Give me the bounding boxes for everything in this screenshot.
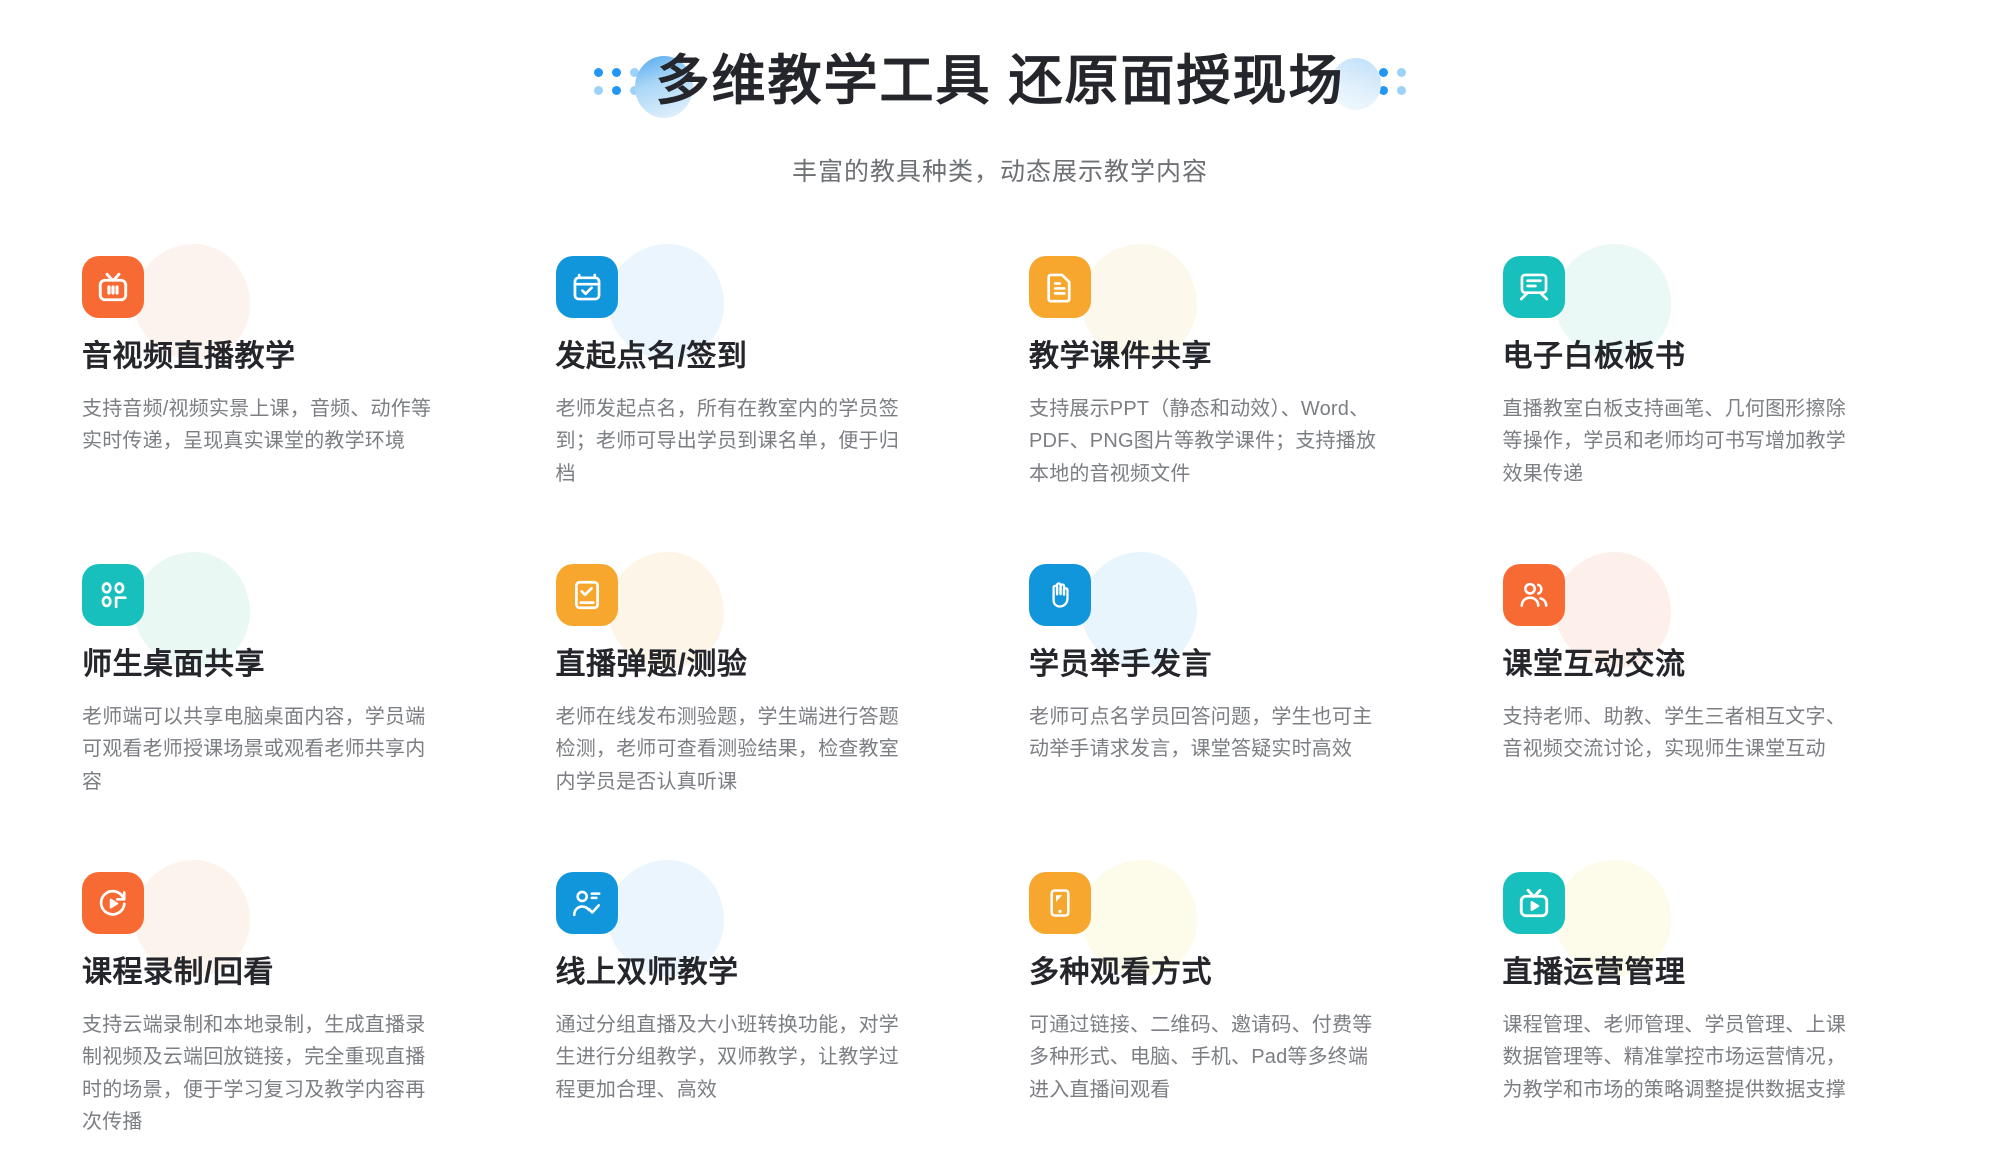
page-subtitle: 丰富的教具种类，动态展示教学内容: [0, 152, 2000, 188]
card-description: 直播教室白板支持画笔、几何图形擦除等操作，学员和老师均可书写增加教学效果传递: [1503, 393, 1853, 490]
card-description: 支持老师、助教、学生三者相互文字、音视频交流讨论，实现师生课堂互动: [1503, 701, 1853, 766]
card-description: 可通过链接、二维码、邀请码、付费等多种形式、电脑、手机、Pad等多终端进入直播间…: [1029, 1009, 1379, 1106]
page-header: 多维教学工具 还原面授现场 丰富的教具种类，动态展示教学内容: [0, 0, 2000, 188]
card-title: 发起点名/签到: [556, 340, 972, 373]
feature-card[interactable]: 教学课件共享 支持展示PPT（静态和动效）、Word、PDF、PNG图片等教学课…: [1029, 250, 1445, 558]
card-description: 老师在线发布测验题，学生端进行答题检测，老师可查看测验结果，检查教室内学员是否认…: [556, 701, 906, 798]
document-lines-icon: [1029, 256, 1091, 318]
feature-grid: 音视频直播教学 支持音频/视频实景上课，音频、动作等实时传递，呈现真实课堂的教学…: [0, 250, 2000, 1174]
feature-card[interactable]: 课程录制/回看 支持云端录制和本地录制，生成直播录制视频及云端回放链接，完全重现…: [82, 866, 498, 1174]
tv-broadcast-icon: [82, 256, 144, 318]
card-description: 支持云端录制和本地录制，生成直播录制视频及云端回放链接，完全重现直播时的场景，便…: [82, 1009, 432, 1139]
feature-card[interactable]: 师生桌面共享 老师端可以共享电脑桌面内容，学员端可观看老师授课场景或观看老师共享…: [82, 558, 498, 866]
whiteboard-icon: [1503, 256, 1565, 318]
page-title: 多维教学工具 还原面授现场: [655, 51, 1344, 111]
feature-card[interactable]: 课堂互动交流 支持老师、助教、学生三者相互文字、音视频交流讨论，实现师生课堂互动: [1503, 558, 1919, 866]
card-title: 多种观看方式: [1029, 956, 1445, 989]
card-description: 课程管理、老师管理、学员管理、上课数据管理等、精准掌控市场运营情况，为教学和市场…: [1503, 1009, 1853, 1106]
mobile-phone-icon: [1029, 872, 1091, 934]
card-description: 通过分组直播及大小班转换功能，对学生进行分组教学，双师教学，让教学过程更加合理、…: [556, 1009, 906, 1106]
feature-card[interactable]: 电子白板板书 直播教室白板支持画笔、几何图形擦除等操作，学员和老师均可书写增加教…: [1503, 250, 1919, 558]
card-title: 师生桌面共享: [82, 648, 498, 681]
card-title: 课堂互动交流: [1503, 648, 1919, 681]
card-description: 老师端可以共享电脑桌面内容，学员端可观看老师授课场景或观看老师共享内容: [82, 701, 432, 798]
card-title: 课程录制/回看: [82, 956, 498, 989]
title-row: 多维教学工具 还原面授现场: [0, 36, 2000, 126]
card-title: 线上双师教学: [556, 956, 972, 989]
card-title: 电子白板板书: [1503, 340, 1919, 373]
card-title: 学员举手发言: [1029, 648, 1445, 681]
feature-card[interactable]: 发起点名/签到 老师发起点名，所有在教室内的学员签到；老师可导出学员到课名单，便…: [556, 250, 972, 558]
card-title: 教学课件共享: [1029, 340, 1445, 373]
quiz-check-icon: [556, 564, 618, 626]
feature-card[interactable]: 线上双师教学 通过分组直播及大小班转换功能，对学生进行分组教学，双师教学，让教学…: [556, 866, 972, 1174]
tv-play-icon: [1503, 872, 1565, 934]
raise-hand-icon: [1029, 564, 1091, 626]
card-description: 支持音频/视频实景上课，音频、动作等实时传递，呈现真实课堂的教学环境: [82, 393, 432, 458]
feature-card[interactable]: 音视频直播教学 支持音频/视频实景上课，音频、动作等实时传递，呈现真实课堂的教学…: [82, 250, 498, 558]
card-description: 支持展示PPT（静态和动效）、Word、PDF、PNG图片等教学课件；支持播放本…: [1029, 393, 1379, 490]
two-people-icon: [1503, 564, 1565, 626]
calendar-check-icon: [556, 256, 618, 318]
dual-teacher-icon: [556, 872, 618, 934]
card-description: 老师可点名学员回答问题，学生也可主动举手请求发言，课堂答疑实时高效: [1029, 701, 1379, 766]
dot-grid-left-icon: [594, 68, 639, 95]
card-title: 音视频直播教学: [82, 340, 498, 373]
card-title: 直播运营管理: [1503, 956, 1919, 989]
feature-card[interactable]: 学员举手发言 老师可点名学员回答问题，学生也可主动举手请求发言，课堂答疑实时高效: [1029, 558, 1445, 866]
card-title: 直播弹题/测验: [556, 648, 972, 681]
card-description: 老师发起点名，所有在教室内的学员签到；老师可导出学员到课名单，便于归档: [556, 393, 906, 490]
replay-icon: [82, 872, 144, 934]
screen-share-icon: [82, 564, 144, 626]
feature-card[interactable]: 多种观看方式 可通过链接、二维码、邀请码、付费等多种形式、电脑、手机、Pad等多…: [1029, 866, 1445, 1174]
feature-card[interactable]: 直播运营管理 课程管理、老师管理、学员管理、上课数据管理等、精准掌控市场运营情况…: [1503, 866, 1919, 1174]
feature-card[interactable]: 直播弹题/测验 老师在线发布测验题，学生端进行答题检测，老师可查看测验结果，检查…: [556, 558, 972, 866]
title-wrap: 多维教学工具 还原面授现场: [649, 54, 1350, 108]
